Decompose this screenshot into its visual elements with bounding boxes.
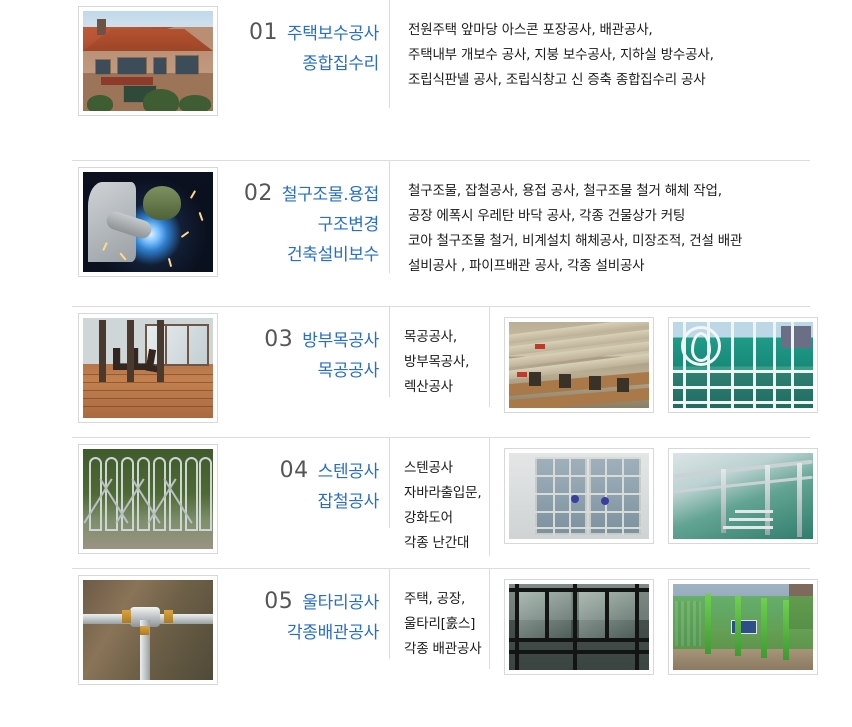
row-03-title-column: 03 방부목공사 목공공사 (232, 307, 390, 397)
row-05-title-line-1: 울타리공사 (302, 588, 379, 618)
brick-house-tile-roof-photo (83, 11, 213, 111)
service-categories-page: 01 주택보수공사 종합집수리 전원주택 앞마당 아스콘 포장공사, 배관공사,… (0, 0, 852, 727)
row-04-desc-line-4: 각종 난간대 (404, 531, 489, 556)
row-01-desc-line-3: 조립식판넬 공사, 조립식창고 신 증축 종합집수리 공사 (408, 68, 810, 93)
row-04-number: 04 (280, 456, 309, 486)
row-05-desc-line-3: 각종 배관공사 (404, 637, 489, 662)
row-05-number: 05 (264, 587, 293, 617)
row-02-main-photo[interactable] (78, 167, 218, 277)
row-02-number: 02 (244, 179, 273, 209)
row-01-desc-line-2: 주택내부 개보수 공사, 지붕 보수공사, 지하실 방수공사, (408, 43, 810, 68)
row-04-sub-photos (490, 438, 818, 544)
row-02-title-column: 02 철구조물.용접 구조변경 건축설비보수 (232, 161, 390, 273)
row-01-title-column: 01 주택보수공사 종합집수리 (232, 0, 390, 108)
row-05-main-photo[interactable] (78, 575, 218, 685)
row-02-desc-line-3: 코아 철구조물 철거, 비계설치 해체공사, 미장조적, 건설 배관 (408, 229, 810, 254)
row-05-title-line-2: 각종배관공사 (287, 618, 379, 648)
row-03-desc-line-3: 렉산공사 (404, 375, 489, 400)
wood-deck-terrace-photo (83, 318, 213, 418)
row-01-desc-line-1: 전원주택 앞마당 아스콘 포장공사, 배관공사, (408, 18, 810, 43)
row-03-sub-photo-1[interactable] (504, 317, 654, 413)
row-03-sub-photos (490, 307, 818, 413)
glass-steel-railing-photo (673, 453, 813, 539)
row-04-sub-photo-2[interactable] (668, 448, 818, 544)
row-03-main-photo[interactable] (78, 313, 218, 423)
row-02-description: 철구조물, 잡철공사, 용접 공사, 철구조물 철거 해체 작업, 공장 에폭시… (390, 161, 810, 279)
row-05-description: 주택, 공장, 울타리[훐스] 각종 배관공사 (390, 569, 490, 669)
row-03-desc-line-2: 방부목공사, (404, 350, 489, 375)
green-mesh-fence-photo (673, 584, 813, 670)
row-01-title-line-1: 주택보수공사 (287, 19, 379, 49)
row-04-sub-photo-1[interactable] (504, 448, 654, 544)
row-04-title-column: 04 스텐공사 잡철공사 (232, 438, 390, 528)
row-01-description: 전원주택 앞마당 아스콘 포장공사, 배관공사, 주택내부 개보수 공사, 지붕… (390, 0, 810, 93)
row-02-desc-line-1: 철구조물, 잡철공사, 용접 공사, 철구조물 철거 해체 작업, (408, 179, 810, 204)
row-02-title-line-2: 구조변경 (318, 210, 379, 240)
row-03-number: 03 (264, 325, 293, 355)
stainless-retractable-gate-photo (83, 449, 213, 549)
service-row-02[interactable]: 02 철구조물.용접 구조변경 건축설비보수 철구조물, 잡철공사, 용접 공사… (0, 161, 852, 306)
underground-pipe-fitting-photo (83, 580, 213, 680)
welder-arc-welding-photo (83, 172, 213, 272)
row-05-sub-photo-2[interactable] (668, 579, 818, 675)
row-05-title-column: 05 울타리공사 각종배관공사 (232, 569, 390, 659)
row-02-desc-line-4: 설비공사 , 파이프배관 공사, 각종 설비공사 (408, 254, 810, 279)
row-04-description: 스텐공사 자바라출입문, 강화도어 각종 난간대 (390, 438, 490, 556)
row-01-main-photo[interactable] (78, 6, 218, 116)
row-03-description: 목공공사, 방부목공사, 렉산공사 (390, 307, 490, 407)
row-05-sub-photo-1[interactable] (504, 579, 654, 675)
row-05-desc-line-2: 울타리[훐스] (404, 612, 489, 637)
service-row-04[interactable]: 04 스텐공사 잡철공사 스텐공사 자바라출입문, 강화도어 각종 난간대 (0, 438, 852, 568)
service-row-01[interactable]: 01 주택보수공사 종합집수리 전원주택 앞마당 아스콘 포장공사, 배관공사,… (0, 0, 852, 160)
green-canopy-greenhouse-photo (673, 322, 813, 408)
service-row-05[interactable]: 05 울타리공사 각종배관공사 주택, 공장, 울타리[훐스] 각종 배관공사 (0, 569, 852, 699)
row-04-title-line-1: 스텐공사 (318, 457, 379, 487)
row-05-sub-photos (490, 569, 818, 675)
row-03-desc-line-1: 목공공사, (404, 325, 489, 350)
row-04-desc-line-2: 자바라출입문, (404, 481, 489, 506)
glass-entrance-door-photo (509, 453, 649, 539)
row-03-title-line-2: 목공공사 (318, 356, 379, 386)
row-04-main-photo[interactable] (78, 444, 218, 554)
service-row-03[interactable]: 03 방부목공사 목공공사 목공공사, 방부목공사, 렉산공사 (0, 307, 852, 437)
row-04-title-line-2: 잡철공사 (318, 487, 379, 517)
row-03-title-line-1: 방부목공사 (302, 326, 379, 356)
row-02-title-line-3: 건축설비보수 (287, 240, 379, 270)
row-02-title-line-1: 철구조물.용접 (282, 180, 379, 210)
deck-joist-framing-photo (509, 322, 649, 408)
dark-frame-storefront-photo (509, 584, 649, 670)
row-04-desc-line-3: 강화도어 (404, 506, 489, 531)
row-01-title-line-2: 종합집수리 (302, 49, 379, 79)
row-05-desc-line-1: 주택, 공장, (404, 587, 489, 612)
row-01-number: 01 (249, 18, 278, 48)
row-04-desc-line-1: 스텐공사 (404, 456, 489, 481)
row-02-desc-line-2: 공장 에폭시 우레탄 바닥 공사, 각종 건물상가 커팅 (408, 204, 810, 229)
row-03-sub-photo-2[interactable] (668, 317, 818, 413)
